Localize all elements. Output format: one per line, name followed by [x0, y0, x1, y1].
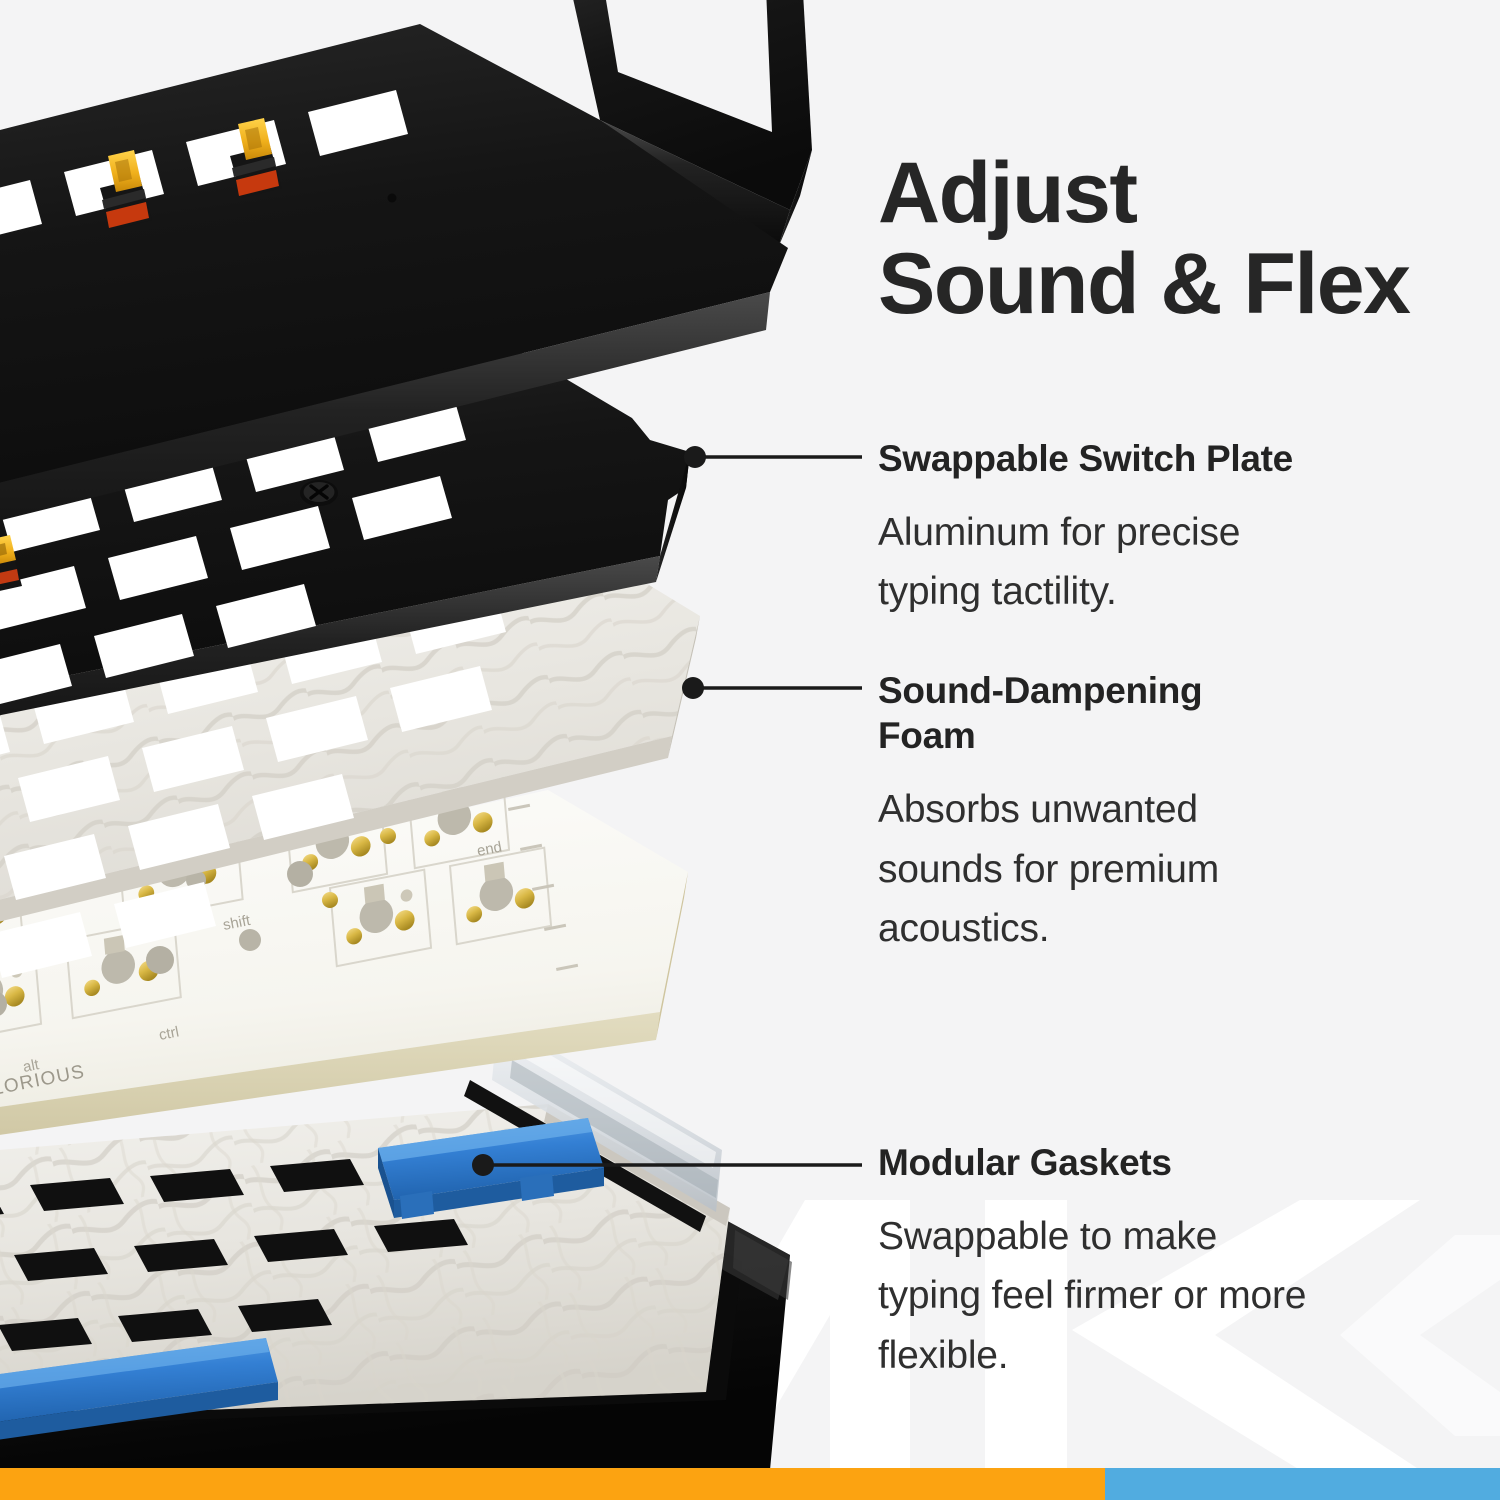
bottom-bar-orange-segment — [0, 1468, 1105, 1500]
callout-swappable-switch-plate: Swappable Switch Plate Aluminum for prec… — [878, 436, 1308, 622]
text-column: Adjust Sound & Flex Swappable Switch Pla… — [878, 0, 1500, 1470]
infographic-canvas: GLORIOUS alt ctrl shift end — [0, 0, 1500, 1500]
callout-sound-dampening-foam: Sound-Dampening Foam Absorbs unwanted so… — [878, 668, 1308, 958]
product-photo-exploded-keyboard: GLORIOUS alt ctrl shift end — [0, 0, 880, 1470]
callout-body: Aluminum for precise typing tactility. — [878, 503, 1308, 622]
callout-heading: Sound-Dampening Foam — [878, 668, 1308, 758]
callout-body: Swappable to make typing feel firmer or … — [878, 1207, 1308, 1385]
callout-body: Absorbs unwanted sounds for premium acou… — [878, 780, 1308, 958]
callout-heading: Modular Gaskets — [878, 1140, 1308, 1185]
bottom-bar-blue-segment — [1105, 1468, 1500, 1500]
callout-modular-gaskets: Modular Gaskets Swappable to make typing… — [878, 1140, 1308, 1385]
bottom-accent-bar — [0, 1468, 1500, 1500]
page-title-line-1: Adjust — [878, 145, 1137, 241]
page-title-line-2: Sound & Flex — [878, 239, 1478, 330]
page-title: Adjust Sound & Flex — [878, 148, 1478, 330]
callout-heading: Swappable Switch Plate — [878, 436, 1308, 481]
plate-screw — [300, 480, 338, 506]
